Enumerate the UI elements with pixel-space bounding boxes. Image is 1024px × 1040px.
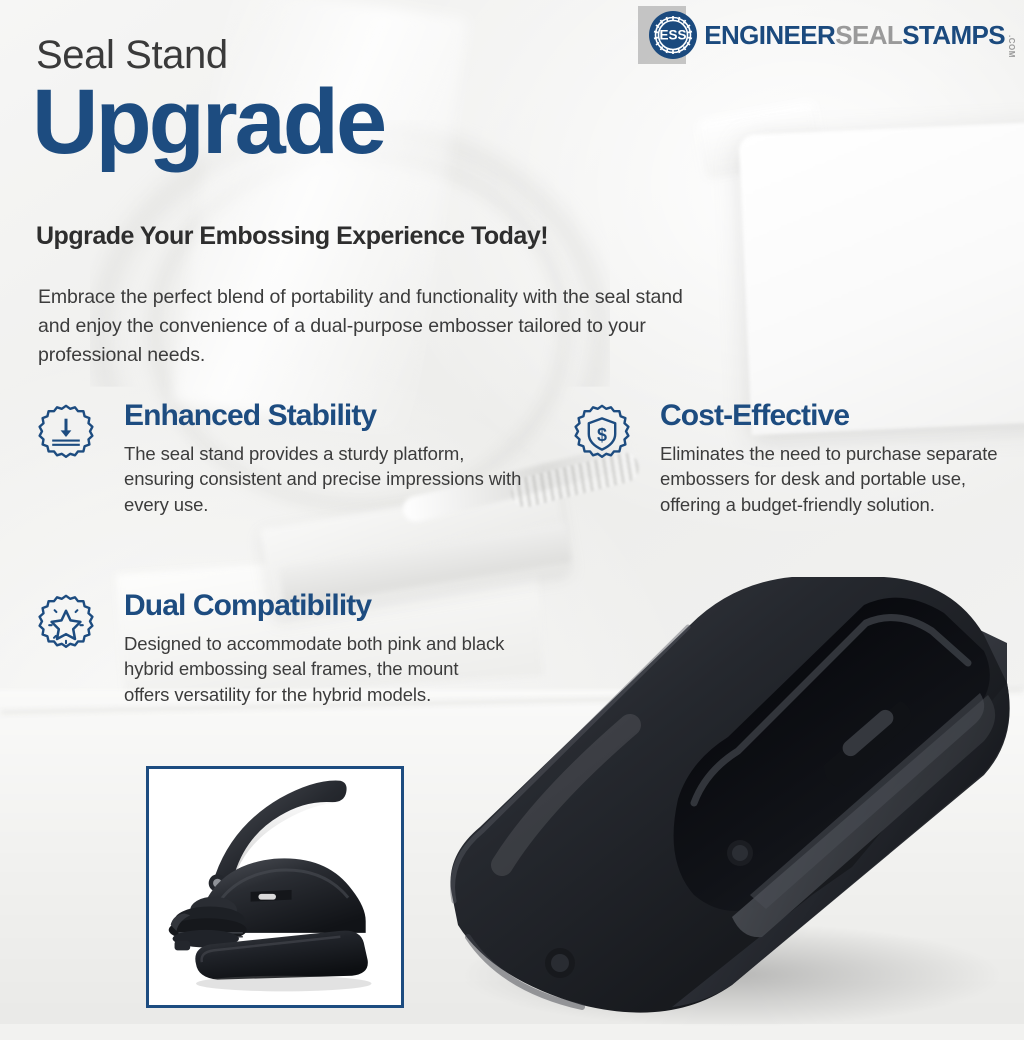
brand-logo[interactable]: ESS ENGINEERSEALSTAMPS .COM (638, 6, 1016, 64)
feature-dual-compatibility: Dual Compatibility Designed to accommoda… (36, 590, 506, 707)
handheld-embosser-photo (146, 766, 404, 1008)
black-seal-stand-photo (432, 565, 1024, 1035)
logo-wordmark: ENGINEERSEALSTAMPS (704, 22, 1005, 48)
logo-segment-stamps: STAMPS (902, 20, 1005, 50)
ess-badge-text: ESS (660, 28, 687, 43)
sparkle-star-badge-icon (36, 594, 96, 654)
shield-dollar-badge-icon: $ (572, 404, 632, 464)
page-intro-paragraph: Embrace the perfect blend of portability… (38, 283, 718, 370)
page-subheading: Upgrade Your Embossing Experience Today! (36, 222, 548, 251)
background-laptop (739, 121, 1024, 435)
feature-body: The seal stand provides a sturdy platfor… (124, 441, 536, 518)
feature-title: Enhanced Stability (124, 400, 536, 432)
ess-gear-badge-icon: ESS (648, 10, 698, 60)
logo-tld: .COM (1007, 35, 1016, 64)
logo-segment-engineer: ENGINEER (704, 20, 835, 50)
feature-body: Eliminates the need to purchase separate… (660, 441, 1012, 518)
feature-title: Cost-Effective (660, 400, 1012, 432)
download-to-platform-badge-icon (36, 404, 96, 464)
feature-body: Designed to accommodate both pink and bl… (124, 631, 506, 708)
logo-segment-seal: SEAL (835, 20, 902, 50)
feature-enhanced-stability: Enhanced Stability The seal stand provid… (36, 400, 536, 517)
feature-cost-effective: $ Cost-Effective Eliminates the need to … (572, 400, 1012, 517)
feature-title: Dual Compatibility (124, 590, 506, 622)
page-title: Upgrade (32, 78, 384, 166)
dollar-glyph: $ (597, 425, 607, 445)
